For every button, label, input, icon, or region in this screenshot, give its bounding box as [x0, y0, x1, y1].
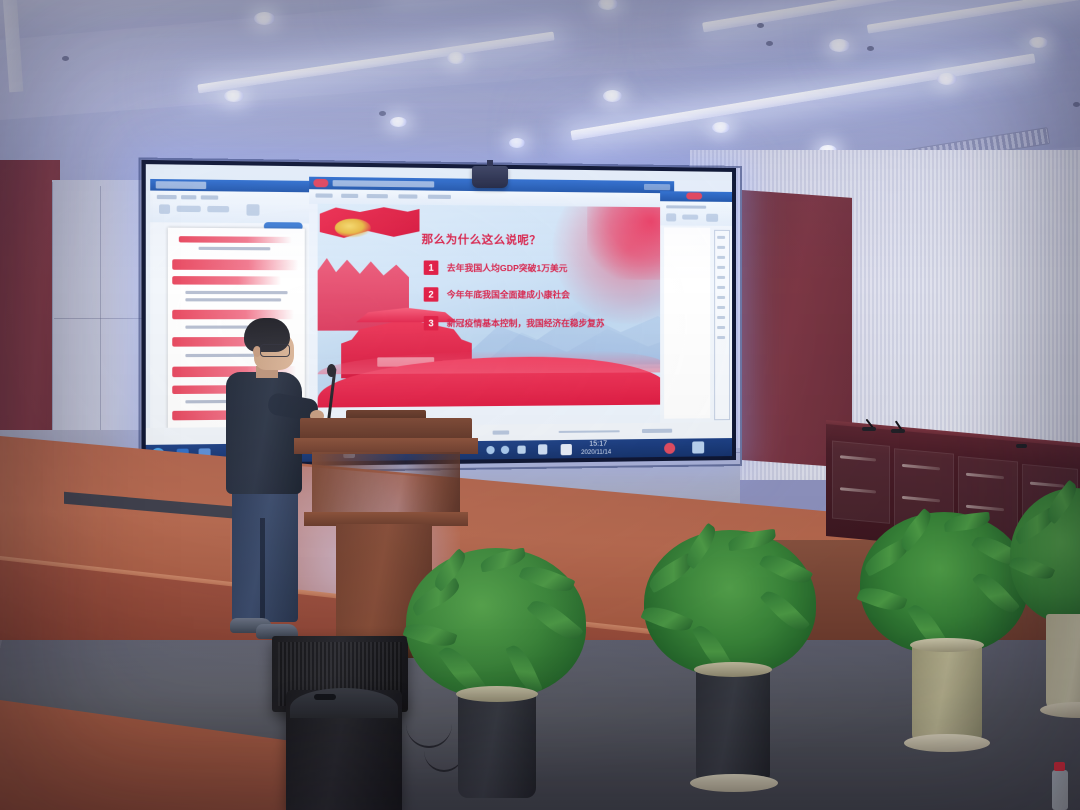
- slide-bullet-text: 去年我国人均GDP突破1万美元: [447, 262, 568, 275]
- ceiling-downlight: [224, 90, 244, 102]
- side-panel-list-item[interactable]: [717, 306, 725, 309]
- document-subtext: [199, 247, 271, 251]
- slide-bullet-text: 新冠疫情基本控制，我国经济在稳步复苏: [447, 317, 605, 329]
- plant-pot: [1046, 614, 1080, 710]
- slide-bullet-row: 2 今年年底我国全面建成小康社会: [424, 287, 660, 304]
- slide-party-emblem: [335, 219, 371, 238]
- side-panel-content: [664, 227, 710, 418]
- side-panel-list-item[interactable]: [717, 316, 725, 319]
- ceiling-downlight: [447, 52, 466, 64]
- document-window-title-text: [156, 181, 206, 189]
- microphone-head-icon: [327, 364, 336, 377]
- side-panel-list-item[interactable]: [717, 246, 725, 249]
- document-paragraph: [185, 291, 287, 294]
- taskbar-clock-date[interactable]: 2020/11/14: [581, 449, 611, 457]
- sprinkler-head: [62, 56, 69, 61]
- slide-bullet-text: 今年年底我国全面建成小康社会: [447, 288, 570, 300]
- plant-pot: [458, 690, 536, 798]
- status-bar-item: [493, 430, 510, 434]
- side-panel-list-item[interactable]: [717, 326, 725, 329]
- presentation-window[interactable]: 那么为什么这么说呢？ 1 去年我国人均GDP突破1万美元 2 今年年底我国全面建…: [309, 177, 674, 435]
- side-panel-ribbon-item[interactable]: [666, 205, 706, 208]
- taskbar-tray-icon[interactable]: [517, 446, 525, 454]
- document-red-band: [172, 259, 298, 270]
- side-panel-ribbon-item[interactable]: [682, 214, 698, 219]
- ceiling-downlight: [712, 122, 730, 133]
- conference-desk-microphone: [888, 420, 910, 432]
- ribbon-tab[interactable]: [398, 194, 417, 198]
- ribbon-item[interactable]: [201, 195, 218, 199]
- glasses-icon: [260, 344, 290, 357]
- taskbar-tray-icon[interactable]: [561, 444, 572, 455]
- plant-pot: [696, 666, 770, 784]
- potted-plant: [858, 512, 1030, 760]
- slide-bullet-number: 2: [424, 287, 439, 301]
- side-panel-list-item[interactable]: [717, 236, 725, 239]
- ribbon-tab[interactable]: [341, 194, 358, 198]
- ceiling-downlight: [603, 90, 622, 102]
- podium-body: [312, 452, 460, 514]
- presentation-title-text: [333, 180, 435, 187]
- ribbon-item[interactable]: [157, 195, 177, 199]
- plant-pot-rim: [910, 638, 984, 652]
- conference-room-photo: 那么为什么这么说呢？ 1 去年我国人均GDP突破1万美元 2 今年年底我国全面建…: [0, 0, 1080, 810]
- ribbon-item[interactable]: [177, 206, 201, 213]
- potted-plant: [640, 530, 820, 790]
- conference-desk-microphone: [860, 418, 880, 430]
- slide-bullet-number: 1: [424, 260, 439, 274]
- presenter-torso: [226, 372, 302, 494]
- side-panel-list-item[interactable]: [717, 276, 725, 279]
- slide-title: 那么为什么这么说呢？: [422, 234, 628, 249]
- ribbon-tab[interactable]: [428, 195, 451, 199]
- side-panel-list-item[interactable]: [717, 296, 725, 299]
- ribbon-item[interactable]: [181, 195, 196, 199]
- side-panel-list-item[interactable]: [717, 256, 725, 259]
- presenter-leg-split: [260, 518, 265, 622]
- ceiling-downlight: [829, 39, 850, 52]
- sprinkler-head: [379, 111, 386, 116]
- bottle-cap: [1054, 762, 1065, 771]
- side-panel-list-item[interactable]: [717, 336, 725, 339]
- ceiling-downlight: [1029, 37, 1048, 48]
- podium-top: [300, 418, 472, 440]
- sprinkler-head: [766, 41, 773, 46]
- projector-icon: [472, 166, 508, 188]
- sprinkler-head: [1073, 102, 1080, 107]
- taskbar-tray-icon[interactable]: [538, 444, 547, 454]
- speaker-handle-icon: [314, 694, 336, 700]
- status-bar-zoom-slider[interactable]: [559, 430, 620, 433]
- slide-bullet-number: 3: [424, 316, 439, 330]
- document-red-band: [172, 276, 281, 285]
- sprinkler-head: [867, 46, 874, 51]
- taskbar-tray-icon[interactable]: [501, 446, 509, 454]
- plant-foliage: [1010, 488, 1080, 624]
- plant-pot-rim: [456, 686, 538, 702]
- side-panel-ribbon-item[interactable]: [706, 214, 718, 222]
- ceiling-downlight: [390, 117, 407, 127]
- taskbar-tray-icon[interactable]: [664, 443, 675, 454]
- slide-bullet-row: 1 去年我国人均GDP突破1万美元: [424, 260, 660, 277]
- potted-plant: [1010, 488, 1080, 718]
- ribbon-item[interactable]: [207, 206, 229, 212]
- ceiling-downlight: [509, 138, 525, 148]
- sprinkler-head: [757, 23, 764, 28]
- slide-bullet-row: 3 新冠疫情基本控制，我国经济在稳步复苏: [424, 316, 666, 333]
- slide-canvas: 那么为什么这么说呢？ 1 去年我国人均GDP突破1万美元 2 今年年底我国全面建…: [318, 204, 667, 408]
- presentation-app-badge: [313, 179, 328, 187]
- ribbon-item[interactable]: [159, 204, 170, 214]
- side-panel-window[interactable]: [660, 191, 732, 437]
- water-bottle: [1052, 762, 1068, 810]
- potted-plant: [400, 548, 590, 810]
- ribbon-item[interactable]: [246, 204, 259, 216]
- ribbon-tab[interactable]: [315, 193, 332, 197]
- conference-desk-microphone: [1016, 442, 1028, 449]
- status-bar-item: [642, 429, 672, 433]
- document-heading-band: [179, 236, 292, 243]
- plant-foliage: [860, 512, 1028, 654]
- plant-pot: [912, 642, 982, 744]
- window-controls[interactable]: [644, 184, 670, 190]
- bottle-body: [1052, 770, 1068, 810]
- taskbar-tray-icon[interactable]: [486, 446, 494, 454]
- plant-saucer: [904, 734, 990, 752]
- taskbar-show-desktop[interactable]: [692, 441, 704, 453]
- presenter-legs: [232, 486, 298, 622]
- side-panel-ribbon-item[interactable]: [666, 213, 676, 221]
- plant-saucer: [690, 774, 778, 792]
- plant-pot-rim: [694, 662, 772, 677]
- ribbon-tab[interactable]: [367, 194, 388, 198]
- ceiling-downlight: [937, 73, 957, 85]
- taskbar-clock-time[interactable]: 15:17: [589, 440, 607, 449]
- side-panel-list-item[interactable]: [717, 266, 725, 269]
- document-paragraph: [185, 298, 281, 301]
- ceiling-downlight: [254, 12, 275, 25]
- side-panel-list-item[interactable]: [717, 286, 725, 289]
- side-panel-badge: [686, 192, 702, 199]
